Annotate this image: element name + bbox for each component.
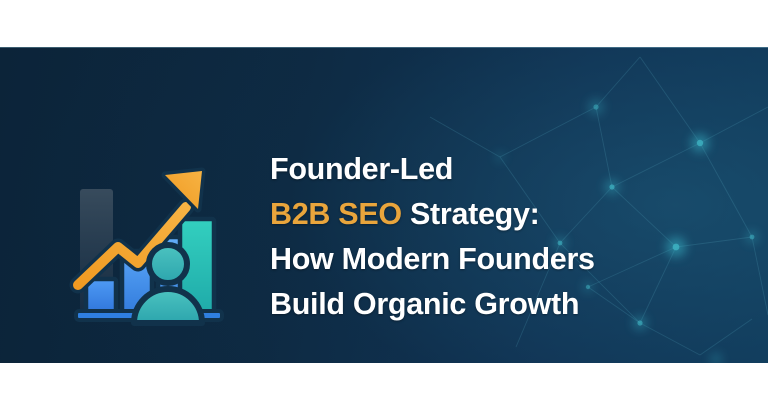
page-title: Founder-Led B2B SEO Strategy: How Modern… [270, 147, 740, 327]
headline-accent-b2b-seo: B2B SEO [270, 197, 402, 231]
headline-line-2: B2B SEO Strategy: [270, 192, 740, 237]
article-hero-banner: Founder-Led B2B SEO Strategy: How Modern… [0, 0, 768, 419]
bottom-white-band [0, 364, 768, 419]
hero-dark-panel: Founder-Led B2B SEO Strategy: How Modern… [0, 47, 768, 363]
headline-line-2-rest: Strategy: [402, 197, 540, 231]
headline-line-1: Founder-Led [270, 147, 740, 192]
top-white-band [0, 0, 768, 47]
headline-line-4: Build Organic Growth [270, 282, 740, 327]
headline-line-3: How Modern Founders [270, 237, 740, 282]
growth-chart-person-icon [62, 151, 252, 343]
